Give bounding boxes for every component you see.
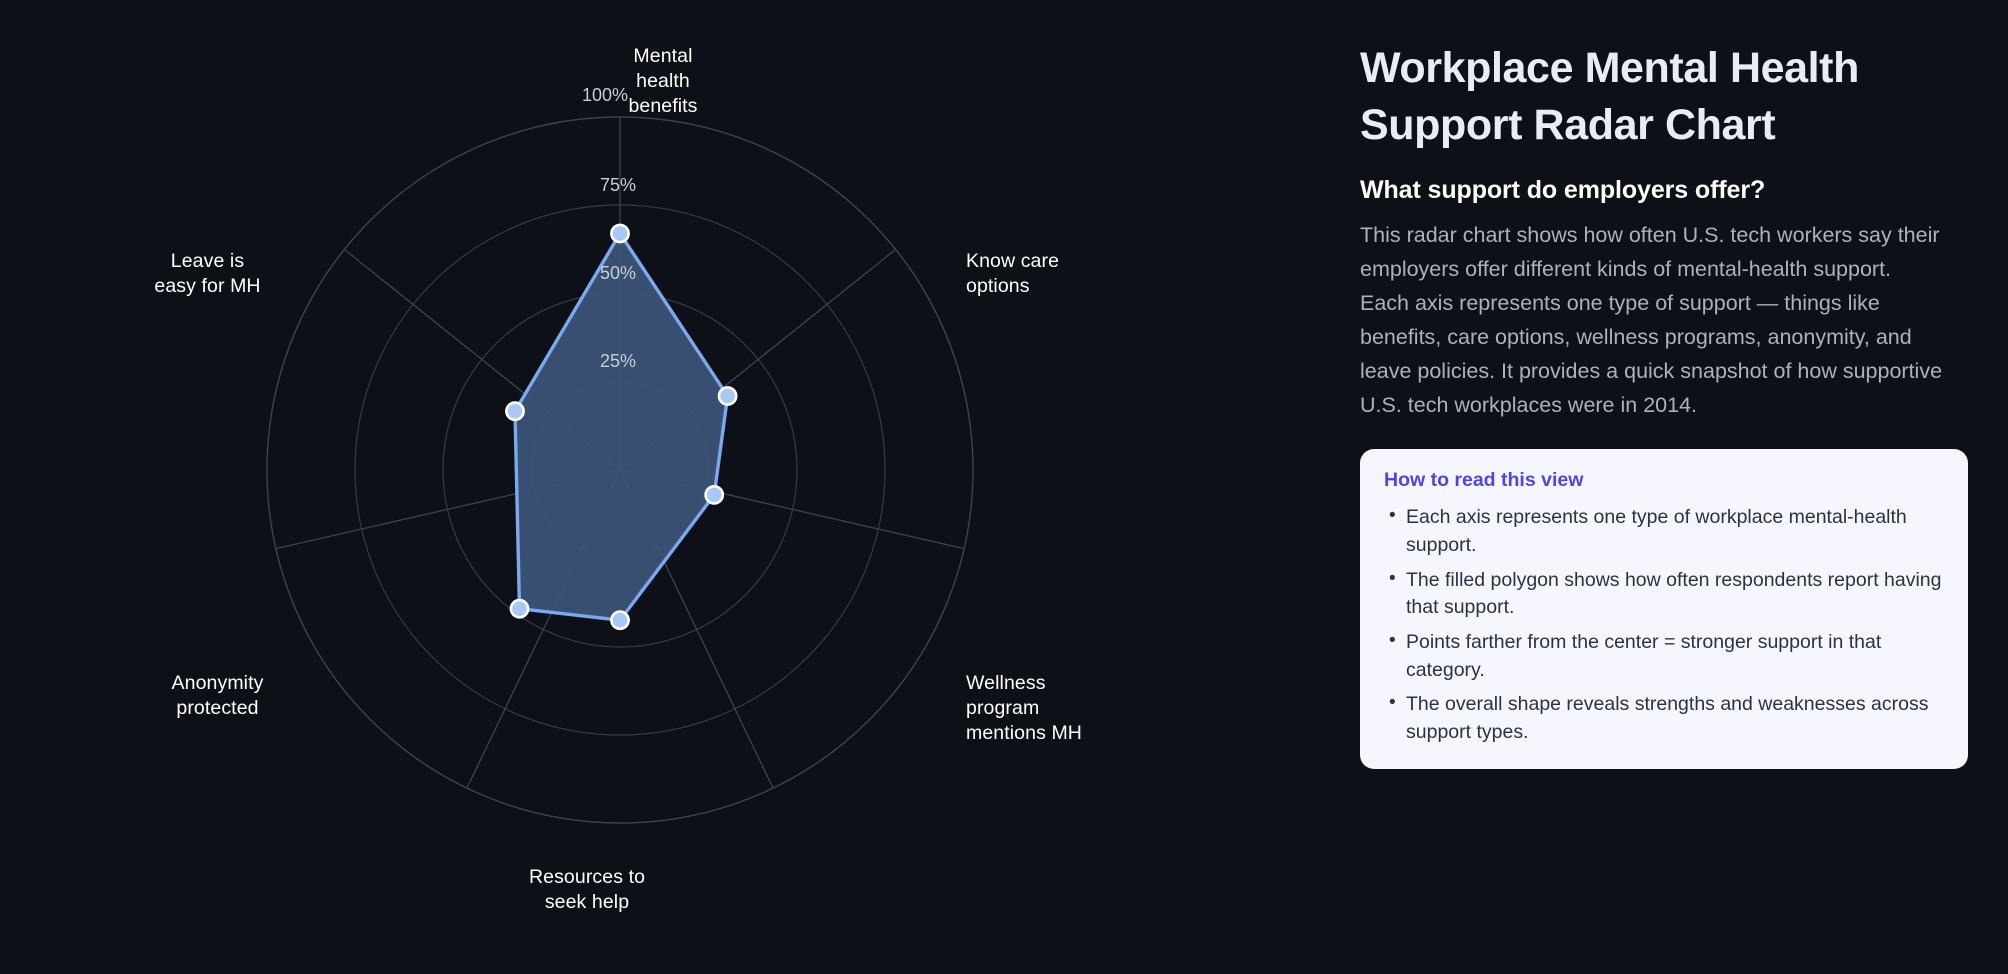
description-paragraph-2: Each axis represents one type of support… — [1360, 287, 1965, 423]
description-block: This radar chart shows how often U.S. te… — [1360, 219, 1965, 423]
list-item: Each axis represents one type of workpla… — [1384, 504, 1944, 559]
radar-chart-svg — [0, 0, 1330, 974]
radar-chart-page: 100% 75% 50% 25% Mental health benefits … — [0, 0, 2008, 974]
description-paragraph-1: This radar chart shows how often U.S. te… — [1360, 219, 1965, 287]
axis-label-mental-health-benefits: Mental health benefits — [578, 44, 748, 119]
axis-label-know-care-options: Know care options — [966, 249, 1176, 299]
axis-label-wellness-program: Wellness program mentions MH — [966, 671, 1176, 746]
page-title: Workplace Mental Health Support Radar Ch… — [1360, 40, 1968, 154]
axis-label-resources-seek-help: Resources to seek help — [462, 865, 712, 915]
list-item: Points farther from the center = stronge… — [1384, 629, 1944, 684]
radial-tick-25: 25% — [600, 351, 636, 372]
radar-data-polygon — [515, 234, 728, 621]
axis-label-leave-easy-mh: Leave is easy for MH — [100, 249, 315, 299]
list-item: The overall shape reveals strengths and … — [1384, 691, 1944, 746]
axis-label-anonymity-protected: Anonymity protected — [110, 671, 325, 721]
data-point-wellness-program[interactable] — [706, 486, 723, 503]
radial-tick-75: 75% — [600, 175, 636, 196]
how-to-read-title: How to read this view — [1384, 469, 1944, 492]
data-point-anonymity-protected[interactable] — [511, 600, 528, 617]
radial-tick-50: 50% — [600, 263, 636, 284]
data-point-resources-seek-help[interactable] — [611, 612, 628, 629]
page-subtitle: What support do employers offer? — [1360, 176, 1968, 205]
data-point-leave-easy-mh[interactable] — [506, 403, 523, 420]
data-point-know-care-options[interactable] — [719, 387, 736, 404]
how-to-read-card: How to read this view Each axis represen… — [1360, 449, 1968, 769]
list-item: The filled polygon shows how often respo… — [1384, 567, 1944, 622]
how-to-read-list: Each axis represents one type of workpla… — [1384, 504, 1944, 747]
data-point-mental-health-benefits[interactable] — [611, 225, 628, 242]
info-panel: Workplace Mental Health Support Radar Ch… — [1330, 0, 2008, 974]
radar-chart-panel: 100% 75% 50% 25% Mental health benefits … — [0, 0, 1330, 974]
